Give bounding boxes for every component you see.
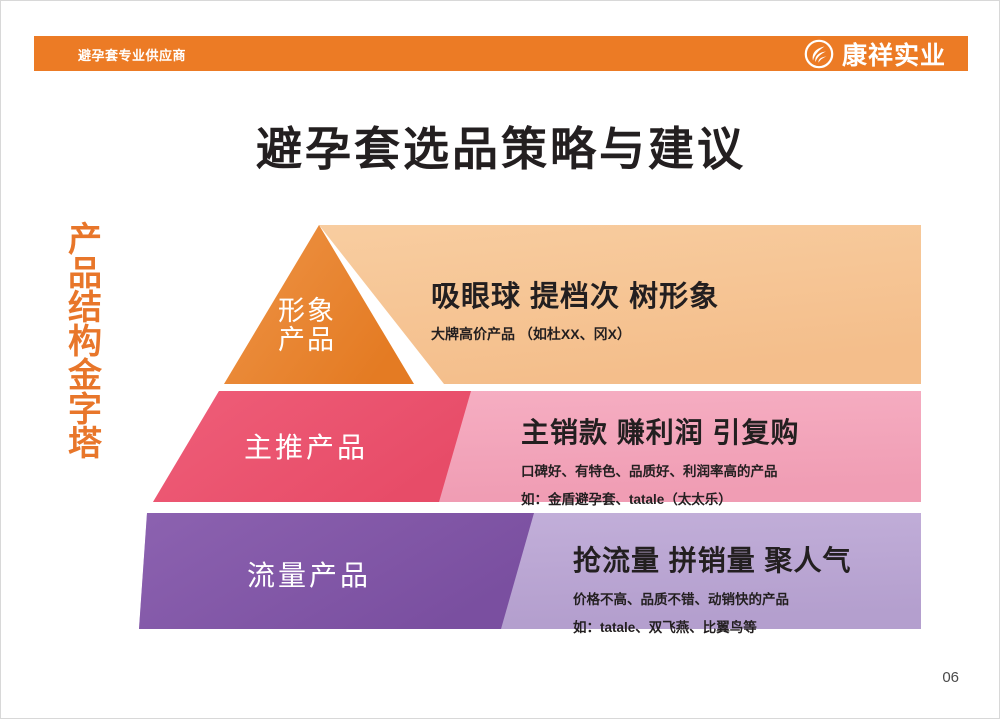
tier-text-mid: 主销款 赚利润 引复购 口碑好、有特色、品质好、利润率高的产品 如：金盾避孕套、… <box>521 411 800 508</box>
tier-label-bot: 流量产品 <box>247 554 371 594</box>
tier-label-mid: 主推产品 <box>244 426 368 466</box>
tier-sub1-mid: 口碑好、有特色、品质好、利润率高的产品 <box>521 460 800 480</box>
vertical-label-char: 构 <box>63 325 107 359</box>
vertical-label-char: 产 <box>63 223 107 257</box>
tier-sub2-bot: 如：tatale、双飞燕、比翼鸟等 <box>573 616 852 636</box>
tier-label-char: 形 <box>278 297 305 326</box>
tier-sub1-bot: 价格不高、品质不错、动销快的产品 <box>573 588 852 608</box>
brand-block: 康祥实业 <box>804 38 946 69</box>
tier-label-top-col-left: 象 品 <box>307 297 334 355</box>
page-title: 避孕套选品策略与建议 <box>1 113 1000 179</box>
slide-canvas: 避孕套专业供应商 康祥实业 避孕套选品策略与建议 产 品 结 构 金 字 塔 <box>0 0 1000 719</box>
header-tagline: 避孕套专业供应商 <box>78 45 186 64</box>
swirl-leaf-circle-icon <box>804 39 834 69</box>
vertical-label-char: 结 <box>63 291 107 325</box>
header-bar: 避孕套专业供应商 康祥实业 <box>34 36 968 71</box>
tier-sub1-top: 大牌高价产品 （如杜XX、冈X） <box>431 324 719 344</box>
vertical-label-char: 字 <box>63 393 107 427</box>
page-number: 06 <box>942 669 959 686</box>
tier-text-bot: 抢流量 拼销量 聚人气 价格不高、品质不错、动销快的产品 如：tatale、双飞… <box>573 539 852 636</box>
tier-sub2-mid: 如：金盾避孕套、tatale（太太乐） <box>521 488 800 508</box>
vertical-label-char: 塔 <box>63 427 107 461</box>
brand-name: 康祥实业 <box>842 36 946 72</box>
vertical-axis-label: 产 品 结 构 金 字 塔 <box>63 223 107 461</box>
tier-label-top: 象 品 形 产 <box>278 297 334 355</box>
tier-label-top-col-right: 形 产 <box>278 297 305 355</box>
vertical-label-char: 品 <box>63 257 107 291</box>
tier-heading-mid: 主销款 赚利润 引复购 <box>521 411 800 451</box>
tier-heading-top: 吸眼球 提档次 树形象 <box>431 273 719 315</box>
tier-heading-bot: 抢流量 拼销量 聚人气 <box>573 539 852 579</box>
tier-label-char: 产 <box>278 326 305 355</box>
vertical-label-char: 金 <box>63 359 107 393</box>
tier-label-char: 品 <box>307 326 334 355</box>
tier-text-top: 吸眼球 提档次 树形象 大牌高价产品 （如杜XX、冈X） <box>431 273 719 344</box>
tier-label-char: 象 <box>307 297 334 326</box>
